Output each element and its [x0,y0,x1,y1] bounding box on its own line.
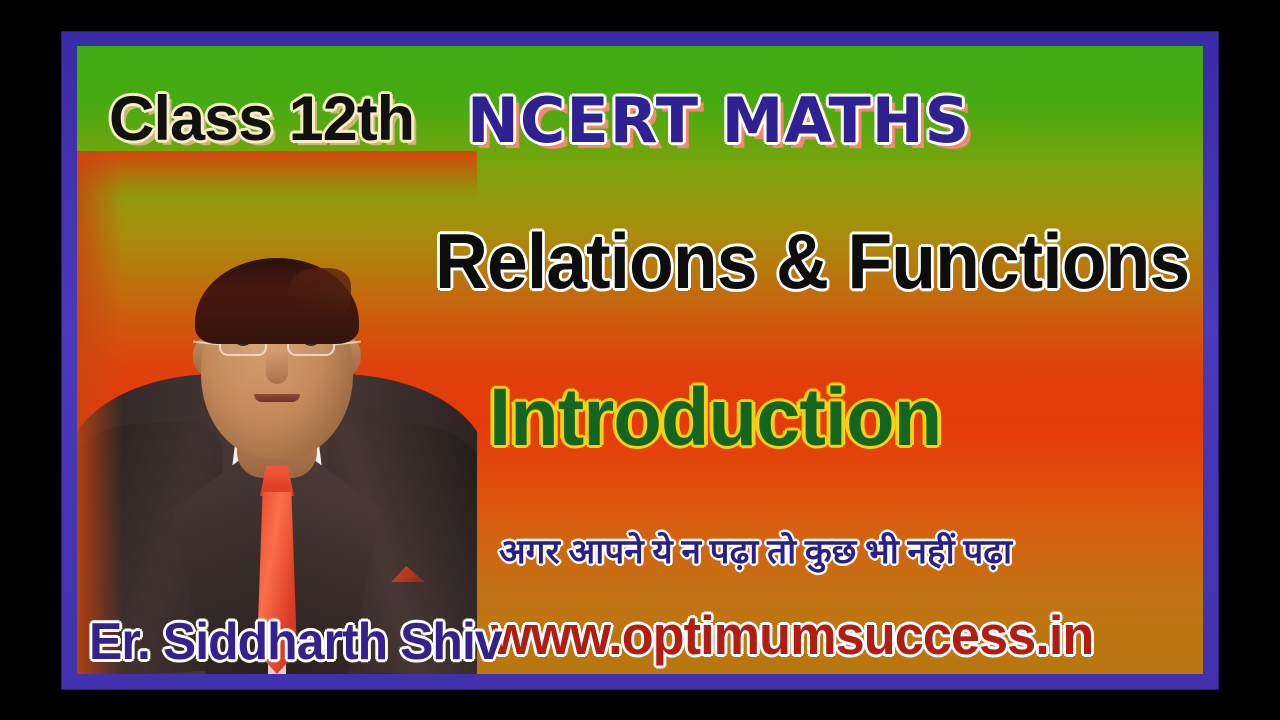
mouth [254,394,300,402]
video-thumbnail-slide: Class 12th NCERT MATHS Relations & Funct… [0,0,1280,720]
website-url[interactable]: www.optimumsuccess.in [491,608,1093,663]
nose [266,354,288,384]
class-level-title: Class 12th [109,88,414,151]
photo-fade-top [77,151,477,197]
hair [195,258,359,344]
presenter-name: Er. Siddharth Shiv [89,616,502,668]
topic-title: Introduction [489,377,941,459]
slide-canvas: Class 12th NCERT MATHS Relations & Funct… [77,46,1203,674]
hindi-tagline: अगर आपने ये न पढ़ा तो कुछ भी नहीं पढ़ा [499,536,1012,570]
decorative-frame-border: Class 12th NCERT MATHS Relations & Funct… [62,32,1218,689]
presenter-photo [77,151,477,674]
photo-fade-left [77,151,123,674]
subject-title: NCERT MATHS [467,90,970,152]
chapter-title: Relations & Functions [435,222,1189,300]
